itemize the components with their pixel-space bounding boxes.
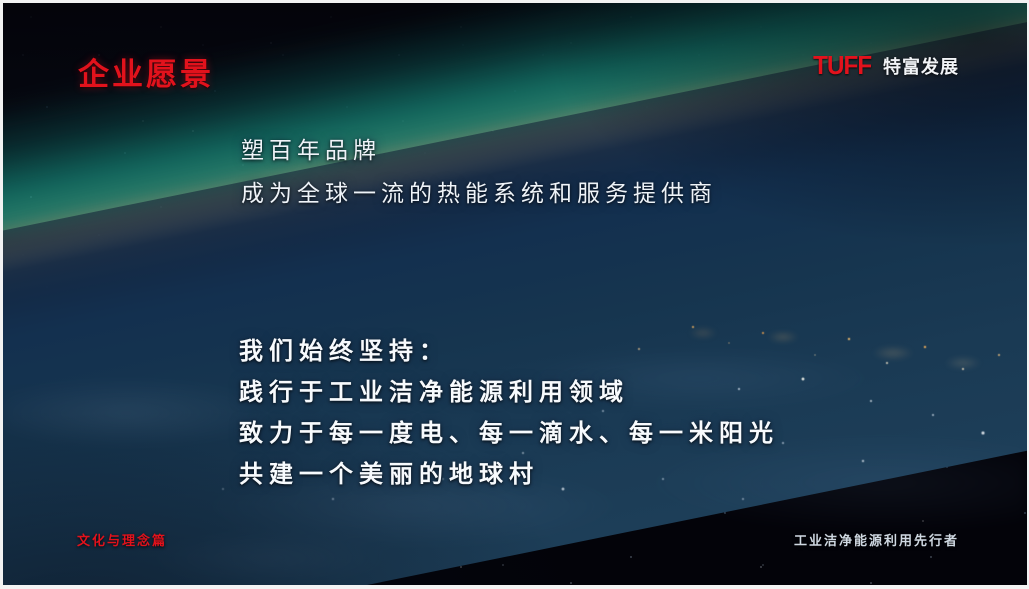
vision-statement-block: 塑百年品牌 成为全球一流的热能系统和服务提供商	[241, 129, 717, 215]
vision-line: 塑百年品牌	[241, 129, 717, 172]
commitment-statement-block: 我们始终坚持： 践行于工业洁净能源利用领域 致力于每一度电、每一滴水、每一米阳光…	[239, 331, 779, 495]
footer-section-label: 文化与理念篇	[77, 530, 167, 549]
tuff-wordmark-icon: TUFF	[813, 50, 871, 81]
commitment-line: 共建一个美丽的地球村	[239, 454, 779, 495]
commitment-line: 我们始终坚持：	[239, 331, 779, 372]
footer-tagline: 工业洁净能源利用先行者	[794, 530, 959, 549]
commitment-line: 践行于工业洁净能源利用领域	[239, 372, 779, 413]
slide-content: 企业愿景 TUFF 特富发展 塑百年品牌 成为全球一流的热能系统和服务提供商 我…	[3, 3, 1027, 585]
company-name-cn: 特富发展	[883, 53, 959, 79]
vision-line: 成为全球一流的热能系统和服务提供商	[241, 172, 717, 215]
brand-logo: TUFF 特富发展	[811, 50, 959, 81]
commitment-line: 致力于每一度电、每一滴水、每一米阳光	[239, 413, 779, 454]
presentation-slide: 企业愿景 TUFF 特富发展 塑百年品牌 成为全球一流的热能系统和服务提供商 我…	[0, 0, 1029, 589]
page-title: 企业愿景	[78, 49, 214, 94]
